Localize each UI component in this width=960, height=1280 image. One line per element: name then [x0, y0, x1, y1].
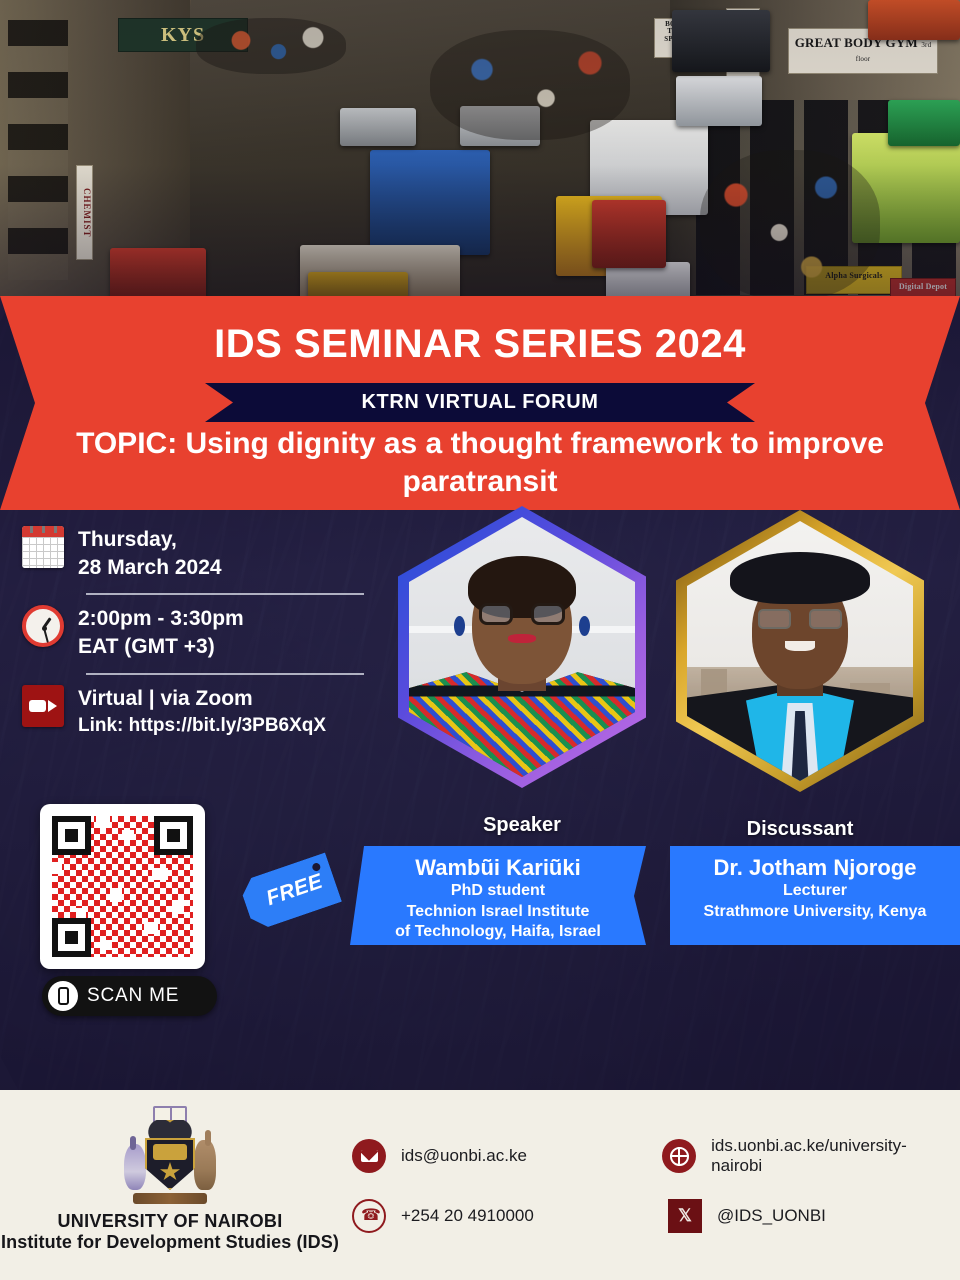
- university-of-nairobi-crest: [122, 1104, 218, 1204]
- seminar-topic: TOPIC: Using dignity as a thought framew…: [40, 425, 920, 502]
- contact-x-handle[interactable]: 𝕏 @IDS_UONBI: [668, 1199, 826, 1233]
- event-venue-row: Virtual | via Zoom Link: https://bit.ly/…: [22, 679, 372, 746]
- discussant-role-label: Discussant: [676, 818, 924, 841]
- contact-phone[interactable]: ☎ +254 20 4910000: [352, 1199, 652, 1233]
- free-tag-label: FREE: [263, 870, 326, 912]
- event-time-line1: 2:00pm - 3:30pm: [78, 605, 244, 633]
- event-time-text: 2:00pm - 3:30pm EAT (GMT +3): [78, 605, 244, 660]
- speaker-hexagon: [398, 506, 646, 788]
- info-divider-1: [86, 593, 364, 595]
- globe-glyph: [670, 1147, 689, 1166]
- forum-ribbon-label: KTRN VIRTUAL FORUM: [361, 391, 598, 414]
- phone-text: +254 20 4910000: [401, 1206, 534, 1226]
- graduation-cap-icon: [730, 552, 870, 604]
- footer: UNIVERSITY OF NAIROBI Institute for Deve…: [0, 1090, 960, 1280]
- contact-row-2: ☎ +254 20 4910000 𝕏 @IDS_UONBI: [352, 1186, 952, 1246]
- qr-block: SCAN ME: [40, 804, 205, 969]
- camera-body: [29, 700, 46, 712]
- event-date-text: Thursday, 28 March 2024: [78, 526, 222, 581]
- event-venue-line1: Virtual | via Zoom: [78, 685, 326, 713]
- calendar-ring-left: [30, 526, 33, 533]
- contact-block: ids@uonbi.ac.ke ids.uonbi.ac.ke/universi…: [352, 1126, 952, 1246]
- x-handle-text: @IDS_UONBI: [717, 1206, 826, 1226]
- clock-icon: [22, 605, 64, 647]
- x-glyph: 𝕏: [678, 1206, 692, 1226]
- smartphone-icon: [48, 981, 78, 1011]
- phone-icon: ☎: [352, 1199, 386, 1233]
- university-branding: UNIVERSITY OF NAIROBI Institute for Deve…: [0, 1104, 340, 1253]
- speaker-detail-3: of Technology, Haifa, Israel: [362, 922, 634, 942]
- clock-center-dot: [42, 626, 47, 631]
- qr-finder-top-right: [154, 816, 193, 855]
- discussant-hexagon: [676, 510, 924, 792]
- forum-ribbon: KTRN VIRTUAL FORUM: [205, 383, 755, 422]
- page-title: IDS SEMINAR SERIES 2024: [0, 322, 960, 367]
- speaker-eyeglasses: [479, 603, 565, 625]
- speaker-detail-1: PhD student: [362, 881, 634, 901]
- event-date-line1: Thursday,: [78, 526, 222, 554]
- calendar-ring-right: [54, 526, 57, 533]
- institute-name: Institute for Development Studies (IDS): [0, 1232, 340, 1253]
- speaker-name: Wambũi Kariũki: [362, 855, 634, 881]
- speaker-earring-left: [454, 616, 465, 636]
- camera-lens: [48, 700, 57, 712]
- email-icon: [352, 1139, 386, 1173]
- event-zoom-link[interactable]: Link: https://bit.ly/3PB6XqX: [78, 713, 326, 738]
- speaker-lips: [508, 634, 536, 643]
- contact-email[interactable]: ids@uonbi.ac.ke: [352, 1139, 646, 1173]
- email-text: ids@uonbi.ac.ke: [401, 1146, 527, 1166]
- discussant-detail-2: Strathmore University, Kenya: [682, 902, 948, 922]
- crest-shield: [145, 1138, 195, 1190]
- discussant-name: Dr. Jotham Njoroge: [682, 855, 948, 881]
- info-divider-2: [86, 673, 364, 675]
- phone-glyph: ☎: [361, 1208, 377, 1224]
- crest-base: [133, 1193, 207, 1204]
- speaker-earring-right: [579, 616, 590, 636]
- qr-code-modules: [52, 816, 193, 957]
- smartphone-glyph: [58, 987, 69, 1005]
- contact-website[interactable]: ids.uonbi.ac.ke/university-nairobi: [662, 1136, 952, 1176]
- event-date-row: Thursday, 28 March 2024: [22, 520, 372, 589]
- speaker-role-label: Speaker: [398, 814, 646, 837]
- website-text: ids.uonbi.ac.ke/university-nairobi: [711, 1136, 952, 1176]
- crest-giraffe: [194, 1140, 216, 1190]
- discussant-name-card: Dr. Jotham Njoroge Lecturer Strathmore U…: [670, 846, 960, 945]
- header-street-photo: KYS CHEMIST BOOK THIS SPACE 24 STUDIO GR…: [0, 0, 960, 300]
- website-icon: [662, 1139, 696, 1173]
- event-venue-text: Virtual | via Zoom Link: https://bit.ly/…: [78, 685, 326, 738]
- qr-code[interactable]: [40, 804, 205, 969]
- discussant-eyeglasses: [758, 609, 842, 629]
- email-glyph: [361, 1150, 378, 1162]
- calendar-icon: [22, 526, 64, 568]
- event-details: Thursday, 28 March 2024 2:00pm - 3:30pm …: [22, 520, 372, 746]
- event-time-row: 2:00pm - 3:30pm EAT (GMT +3): [22, 599, 372, 668]
- speaker-name-card: Wambũi Kariũki PhD student Technion Isra…: [350, 846, 646, 945]
- speaker-detail-2: Technion Israel Institute: [362, 902, 634, 922]
- crest-crowned-crane: [124, 1144, 146, 1190]
- qr-finder-top-left: [52, 816, 91, 855]
- photo-vignette: [0, 0, 960, 300]
- university-name: UNIVERSITY OF NAIROBI: [0, 1211, 340, 1232]
- qr-finder-bottom-left: [52, 918, 91, 957]
- video-camera-icon: [22, 685, 64, 727]
- calendar-icon-grid: [22, 537, 64, 568]
- calendar-ring-mid: [42, 526, 45, 533]
- scan-me-label: SCAN ME: [87, 985, 179, 1007]
- discussant-smile: [785, 641, 815, 651]
- event-time-line2: EAT (GMT +3): [78, 633, 244, 661]
- scan-me-badge: SCAN ME: [42, 976, 217, 1016]
- seminar-poster: KYS CHEMIST BOOK THIS SPACE 24 STUDIO GR…: [0, 0, 960, 1280]
- discussant-detail-1: Lecturer: [682, 881, 948, 901]
- contact-row-1: ids@uonbi.ac.ke ids.uonbi.ac.ke/universi…: [352, 1126, 952, 1186]
- event-date-line2: 28 March 2024: [78, 554, 222, 582]
- x-twitter-icon: 𝕏: [668, 1199, 702, 1233]
